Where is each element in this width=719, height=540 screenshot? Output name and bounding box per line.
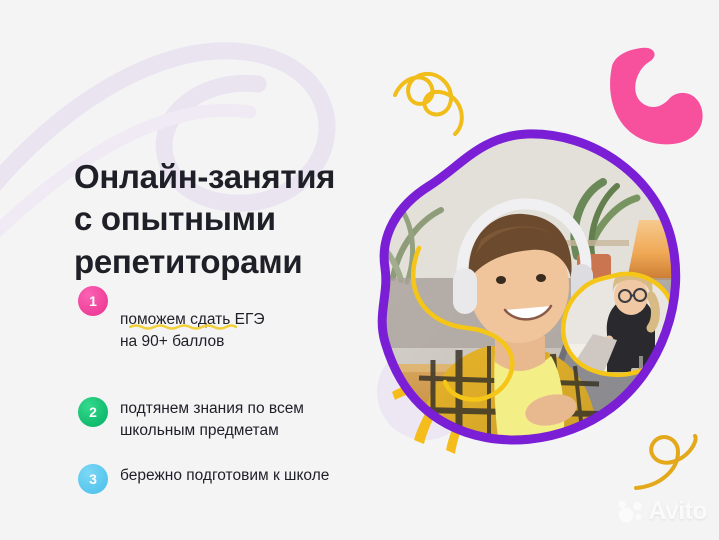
bullet-badge-2: 2: [78, 397, 108, 427]
bullet-badge-3: 3: [78, 464, 108, 494]
avito-watermark: Avito: [617, 497, 707, 526]
avito-logo-icon: [617, 500, 645, 524]
hero-photo-illustration: [355, 128, 685, 458]
hero-photo: [355, 128, 685, 458]
yellow-wavy-underline: [129, 323, 237, 330]
page-title: Онлайн-занятия с опытными репетиторами: [74, 156, 394, 283]
bullet-text-3: бережно подготовим к школе: [120, 464, 329, 487]
bullet-badge-1: 1: [78, 286, 108, 316]
bullet-text-2: подтянем знания по всем школьным предмет…: [120, 397, 304, 442]
list-item: 3 бережно подготовим к школе: [78, 464, 408, 494]
advertising-banner: Онлайн-занятия с опытными репетиторами 1…: [0, 0, 719, 540]
bullet-text-1: поможем сдать ЕГЭ на 90+ баллов: [120, 286, 265, 375]
avito-wordmark: Avito: [648, 497, 707, 526]
bullet-label-1: поможем сдать ЕГЭ на 90+ баллов: [120, 311, 265, 350]
